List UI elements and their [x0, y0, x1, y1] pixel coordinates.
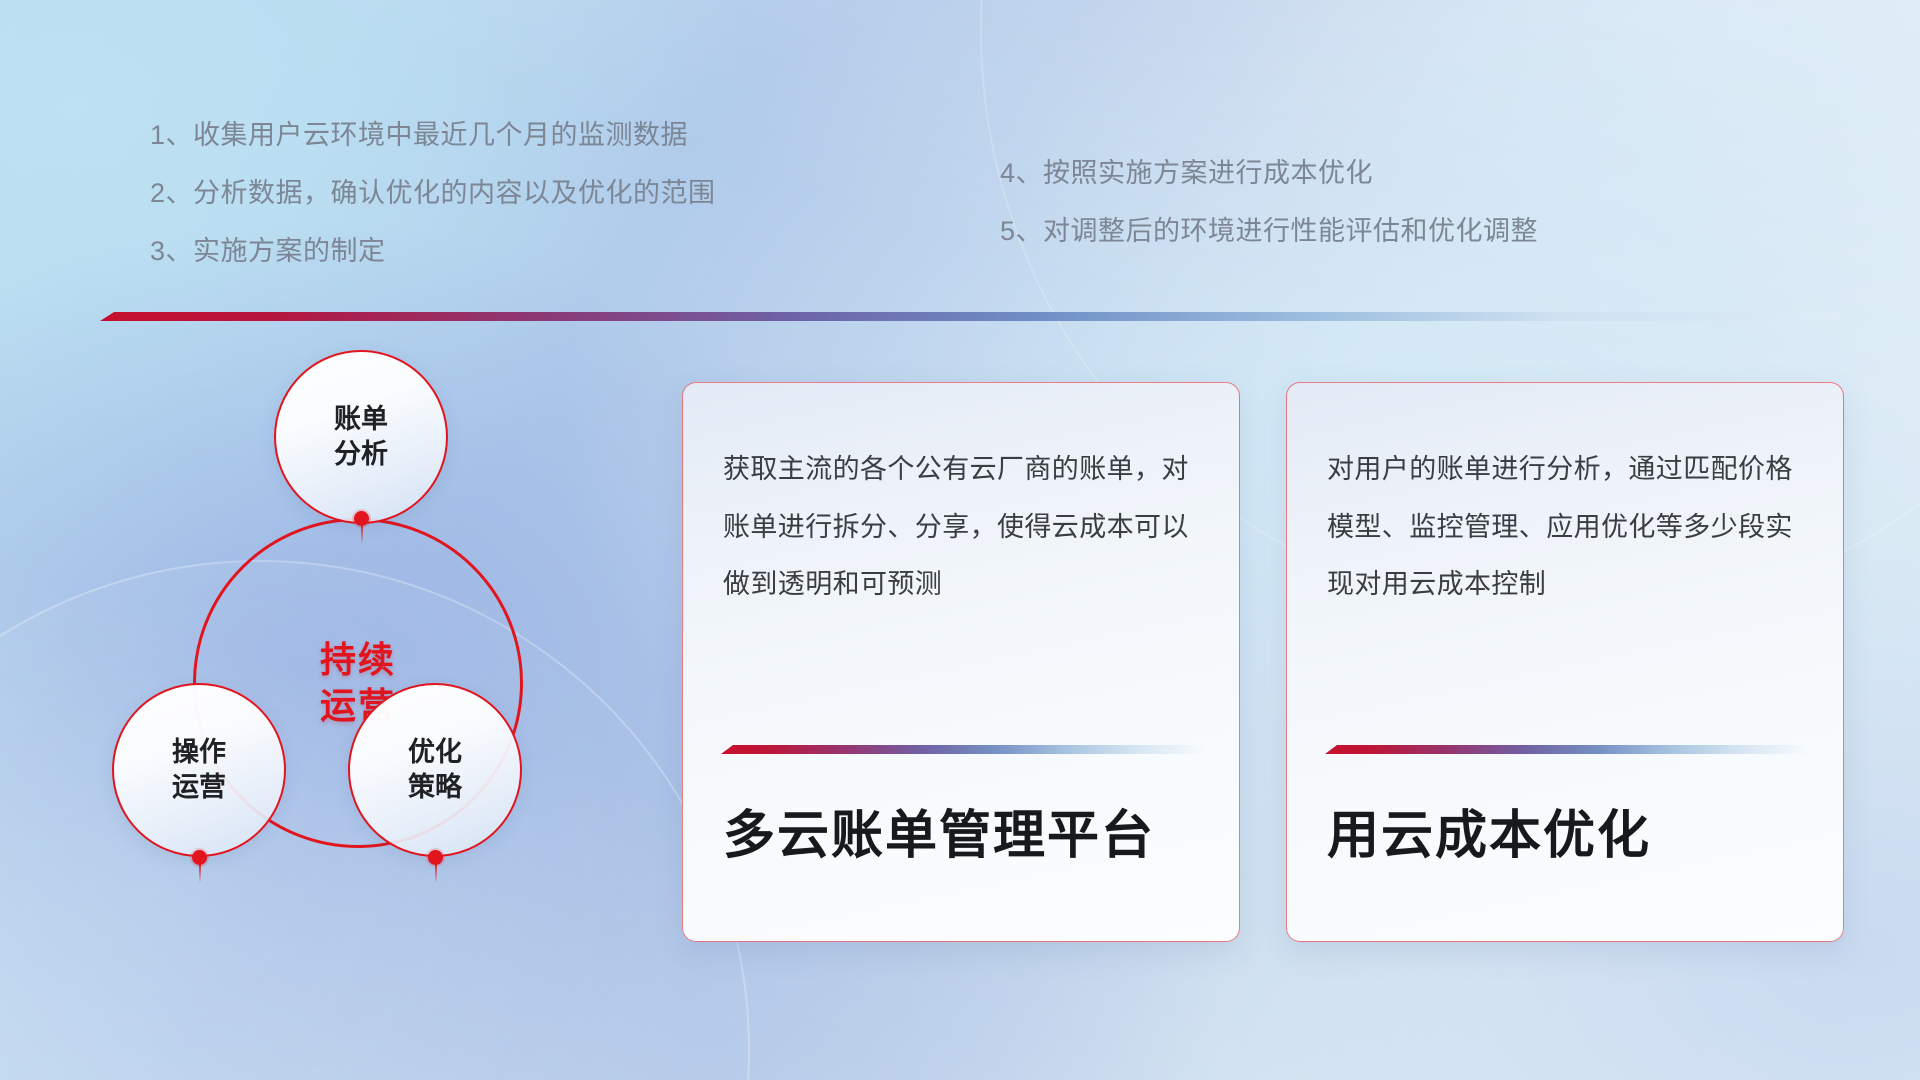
slide-canvas: 1、收集用户云环境中最近几个月的监测数据 2、分析数据，确认优化的内容以及优化的… [0, 0, 1920, 1080]
card-cloud-cost-optimization-divider [1325, 745, 1807, 754]
venn-stem-bottom-right [435, 863, 437, 883]
venn-diagram: 持续 运营 账单 分析 操作 运营 优化 策略 [100, 350, 620, 950]
venn-node-bill-analysis-line2: 分析 [334, 437, 388, 472]
venn-node-bill-analysis-line1: 账单 [334, 402, 388, 437]
header-divider-bar [100, 312, 1840, 321]
step-item-2: 2、分析数据，确认优化的内容以及优化的范围 [150, 180, 716, 207]
venn-dot-top [354, 511, 369, 526]
venn-stem-bottom-left [199, 863, 201, 883]
card-multi-cloud-billing-divider [721, 745, 1203, 754]
card-cloud-cost-optimization-title: 用云成本优化 [1327, 793, 1651, 868]
step-item-3: 3、实施方案的制定 [150, 238, 716, 265]
venn-node-operations-line2: 运营 [172, 770, 226, 805]
steps-left-column: 1、收集用户云环境中最近几个月的监测数据 2、分析数据，确认优化的内容以及优化的… [150, 122, 716, 296]
venn-dot-bottom-right [428, 850, 443, 865]
card-multi-cloud-billing-body: 获取主流的各个公有云厂商的账单，对账单进行拆分、分享，使得云成本可以做到透明和可… [723, 441, 1199, 614]
card-multi-cloud-billing[interactable]: 获取主流的各个公有云厂商的账单，对账单进行拆分、分享，使得云成本可以做到透明和可… [682, 382, 1240, 942]
venn-node-operations-line1: 操作 [172, 735, 226, 770]
step-item-4: 4、按照实施方案进行成本优化 [1000, 160, 1538, 187]
venn-node-optimization-strategy[interactable]: 优化 策略 [348, 683, 522, 857]
venn-node-operations[interactable]: 操作 运营 [112, 683, 286, 857]
card-cloud-cost-optimization[interactable]: 对用户的账单进行分析，通过匹配价格模型、监控管理、应用优化等多少段实现对用云成本… [1286, 382, 1844, 942]
step-item-5: 5、对调整后的环境进行性能评估和优化调整 [1000, 218, 1538, 245]
venn-node-bill-analysis[interactable]: 账单 分析 [274, 350, 448, 524]
card-cloud-cost-optimization-body: 对用户的账单进行分析，通过匹配价格模型、监控管理、应用优化等多少段实现对用云成本… [1327, 441, 1803, 614]
step-item-1: 1、收集用户云环境中最近几个月的监测数据 [150, 122, 716, 149]
card-multi-cloud-billing-title: 多云账单管理平台 [723, 793, 1155, 868]
venn-node-optimization-strategy-line1: 优化 [408, 735, 462, 770]
venn-node-optimization-strategy-line2: 策略 [408, 770, 462, 805]
venn-stem-top [361, 524, 363, 544]
steps-right-column: 4、按照实施方案进行成本优化 5、对调整后的环境进行性能评估和优化调整 [1000, 160, 1538, 276]
venn-dot-bottom-left [192, 850, 207, 865]
